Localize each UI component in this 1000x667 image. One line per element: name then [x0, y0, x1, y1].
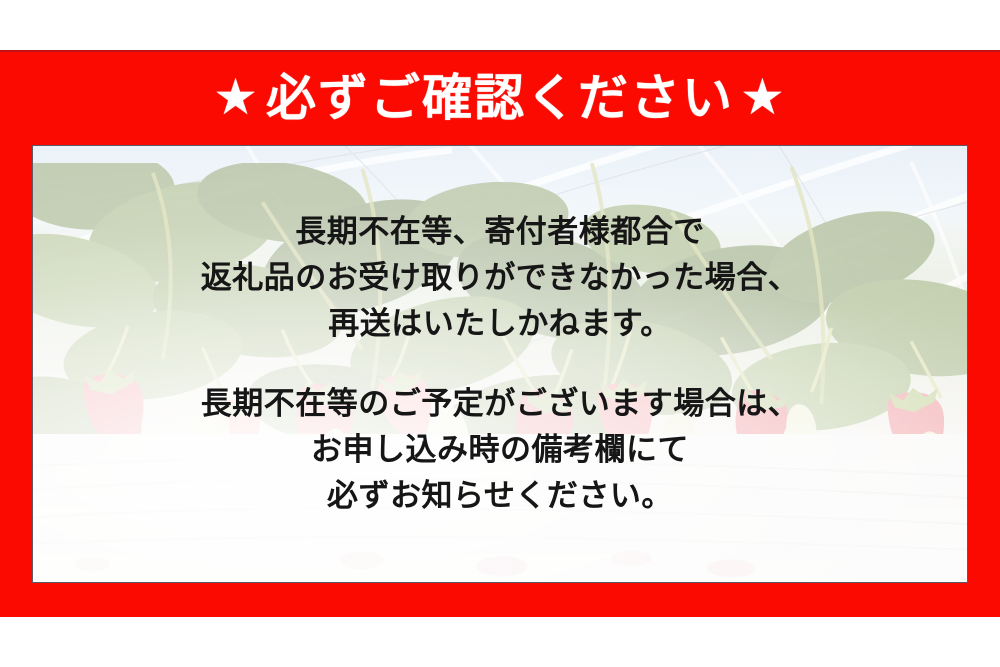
notice-panel: 長期不在等、寄付者様都合で 返礼品のお受け取りができなかった場合、 再送はいたし…: [32, 145, 968, 583]
notice-line: 長期不在等、寄付者様都合で: [201, 209, 800, 255]
notice-line: 返礼品のお受け取りができなかった場合、: [201, 255, 800, 301]
paragraph-no-reshipment: 長期不在等、寄付者様都合で 返礼品のお受け取りができなかった場合、 再送はいたし…: [201, 209, 800, 347]
star-icon-left: ★: [213, 72, 260, 122]
notice-text-block: 長期不在等、寄付者様都合で 返礼品のお受け取りができなかった場合、 再送はいたし…: [33, 146, 967, 582]
poster-canvas: ★ 必ずご確認ください ★: [0, 0, 1000, 667]
notice-line: 長期不在等のご予定がございます場合は、: [201, 381, 800, 427]
notice-line: 必ずお知らせください。: [201, 473, 800, 519]
page-title: ★ 必ずご確認ください ★: [0, 50, 1000, 145]
notice-line: お申し込み時の備考欄にて: [201, 427, 800, 473]
star-icon-right: ★: [740, 72, 787, 122]
page-title-text: 必ずご確認ください: [266, 73, 734, 123]
notice-line: 再送はいたしかねます。: [201, 301, 800, 347]
paragraph-notify-in-advance: 長期不在等のご予定がございます場合は、 お申し込み時の備考欄にて 必ずお知らせく…: [201, 381, 800, 519]
